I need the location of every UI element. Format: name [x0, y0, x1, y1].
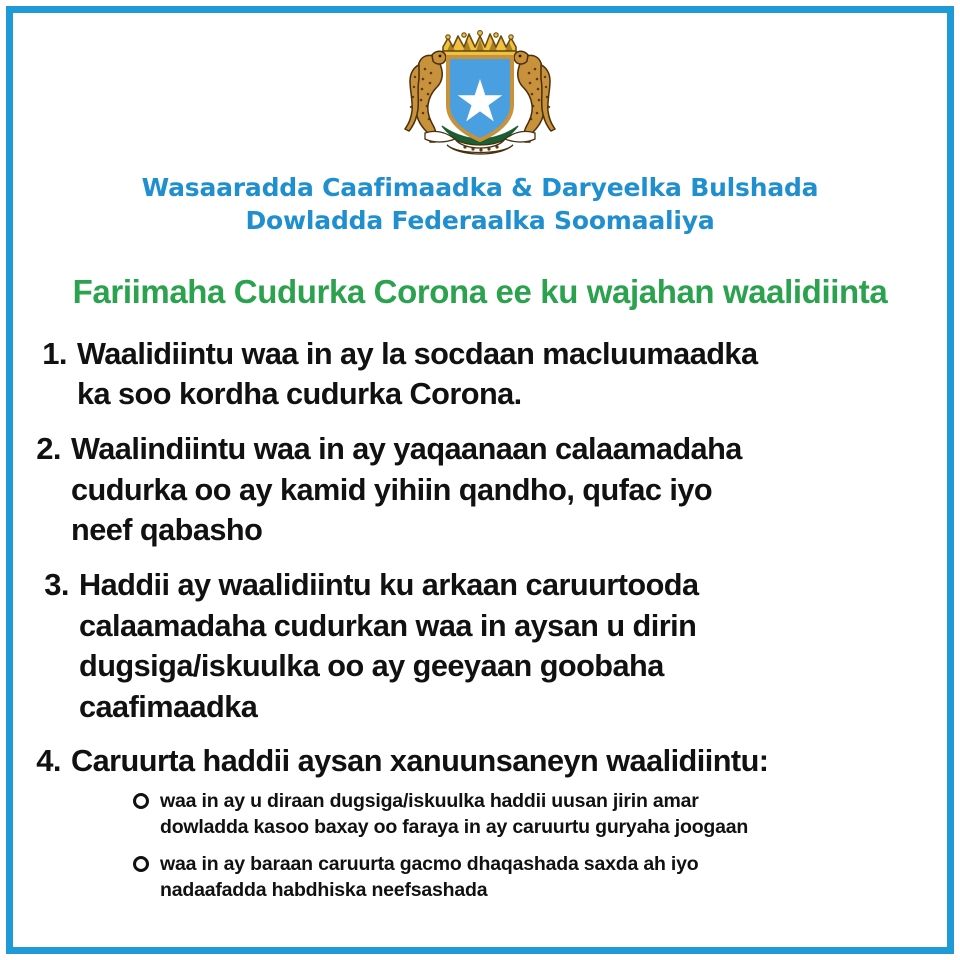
sub-item-line: nadaafadda habdhiska neefsashada [160, 877, 937, 903]
item-number: 4. [23, 741, 71, 782]
ministry-line-1: Wasaaradda Caafimaadka & Daryeelka Bulsh… [142, 173, 819, 202]
item-text: Haddii ay waalidiintu ku arkaan caruurto… [79, 565, 928, 727]
ring-bullet-icon [133, 856, 149, 872]
sub-advice-list: waa in ay u diraan dugsiga/iskuulka hadd… [23, 788, 937, 904]
item-line: caafimaadka [79, 687, 928, 728]
poster: Wasaaradda Caafimaadka & Daryeelka Bulsh… [0, 0, 960, 960]
page-title: Fariimaha Cudurka Corona ee ku wajahan w… [30, 275, 930, 312]
item-line: ka soo kordha cudurka Corona. [77, 374, 928, 415]
item-text: Waalindiintu waa in ay yaqaanaan calaama… [71, 429, 928, 551]
poster-frame: Wasaaradda Caafimaadka & Daryeelka Bulsh… [6, 6, 954, 954]
item-number: 3. [31, 565, 79, 606]
item-line: Haddii ay waalidiintu ku arkaan caruurto… [79, 565, 928, 606]
sub-item-line: waa in ay u diraan dugsiga/iskuulka hadd… [160, 788, 937, 814]
emblem-container [23, 21, 937, 163]
advice-list: 1. Waalidiintu waa in ay la socdaan macl… [23, 334, 937, 782]
list-item: 2. Waalindiintu waa in ay yaqaanaan cala… [23, 429, 937, 551]
item-line: neef qabasho [71, 510, 928, 551]
ring-bullet-icon [133, 793, 149, 809]
sub-item-line: waa in ay baraan caruurta gacmo dhaqasha… [160, 851, 937, 877]
sub-list-item: waa in ay baraan caruurta gacmo dhaqasha… [133, 851, 937, 903]
item-number: 1. [29, 334, 77, 375]
item-line: Caruurta haddii aysan xanuunsaneyn waali… [71, 741, 928, 782]
sub-item-text: waa in ay baraan caruurta gacmo dhaqasha… [160, 851, 937, 903]
item-text: Waalidiintu waa in ay la socdaan macluum… [77, 334, 928, 415]
item-number: 2. [23, 429, 71, 470]
item-line: cudurka oo ay kamid yihiin qandho, qufac… [71, 470, 928, 511]
list-item: 4. Caruurta haddii aysan xanuunsaneyn wa… [23, 741, 937, 782]
item-line: Waalidiintu waa in ay la socdaan macluum… [77, 334, 928, 375]
sub-item-text: waa in ay u diraan dugsiga/iskuulka hadd… [160, 788, 937, 840]
coat-of-arms-of-somalia-icon [385, 21, 575, 163]
item-line: Waalindiintu waa in ay yaqaanaan calaama… [71, 429, 928, 470]
list-item: 3. Haddii ay waalidiintu ku arkaan caruu… [31, 565, 937, 727]
item-line: dugsiga/iskuulka oo ay geeyaan goobaha [79, 646, 928, 687]
sub-list-item: waa in ay u diraan dugsiga/iskuulka hadd… [133, 788, 937, 840]
ministry-line-2: Dowladda Federaalka Soomaaliya [23, 205, 937, 238]
item-line: calaamadaha cudurkan waa in aysan u diri… [79, 606, 928, 647]
list-item: 1. Waalidiintu waa in ay la socdaan macl… [29, 334, 937, 415]
ministry-header: Wasaaradda Caafimaadka & Daryeelka Bulsh… [23, 172, 937, 237]
sub-item-line: dowladda kasoo baxay oo faraya in ay car… [160, 814, 937, 840]
item-text: Caruurta haddii aysan xanuunsaneyn waali… [71, 741, 928, 782]
